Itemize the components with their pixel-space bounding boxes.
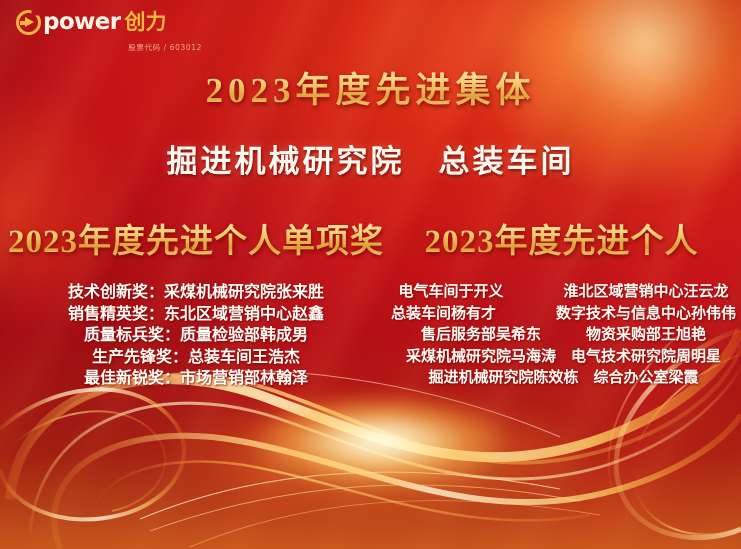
person-name: 采煤机械研究院马海涛 [406,347,571,369]
person-name: 售后服务部吴希东 [421,325,586,347]
list-item: 掘进机械研究院陈效栋 综合办公室梁霞 [428,368,698,390]
individual-award-list: 电气车间于开义 淮北区域营销中心汪云龙 总装车间杨有才 数字技术与信息中心孙伟伟… [392,282,741,390]
person-name: 电气车间于开义 [398,282,563,304]
person-name: 物资采购部王旭艳 [586,325,706,347]
award-poster: power 创力 股票代码 / 603012 2023年度先进集体 掘进机械研究… [0,0,741,549]
award-columns: 技术创新奖：采煤机械研究院张来胜 销售精英奖：东北区域营销中心赵鑫 质量标兵奖：… [0,282,741,390]
person-name: 掘进机械研究院陈效栋 [428,368,593,390]
section-headings: 2023年度先进个人单项奖 2023年度先进个人 [0,214,741,262]
person-name: 电气技术研究院周明星 [571,347,721,369]
logo-row: power 创力 [16,10,206,35]
list-item: 最佳新锐奖：市场营销部林翰泽 [84,368,308,390]
logo-wordmark-en: power [43,11,120,34]
circle-arrow-logo-icon [16,10,41,35]
list-item: 采煤机械研究院马海涛 电气技术研究院周明星 [406,347,721,369]
person-name: 淮北区域营销中心汪云龙 [563,282,728,304]
list-item: 销售精英奖：东北区域营销中心赵鑫 [68,304,324,326]
special-award-list: 技术创新奖：采煤机械研究院张来胜 销售精英奖：东北区域营销中心赵鑫 质量标兵奖：… [0,282,392,390]
person-name: 总装车间杨有才 [391,304,556,326]
company-logo[interactable]: power 创力 股票代码 / 603012 [16,10,206,53]
person-name: 综合办公室梁霞 [593,368,698,390]
page-subtitle: 掘进机械研究院 总装车间 [0,136,741,181]
list-item: 售后服务部吴希东 物资采购部王旭艳 [421,325,706,347]
list-item: 质量标兵奖：质量检验部韩成男 [84,325,308,347]
logo-wordmark-cn: 创力 [124,12,166,33]
list-item: 电气车间于开义 淮北区域营销中心汪云龙 [398,282,728,304]
person-name: 数字技术与信息中心孙伟伟 [556,304,736,326]
stock-code-label: 股票代码 / 603012 [16,42,206,53]
swoosh-hotspot [215,381,545,501]
page-title: 2023年度先进集体 [0,62,741,113]
list-item: 总装车间杨有才 数字技术与信息中心孙伟伟 [391,304,736,326]
list-item: 生产先锋奖：总装车间王浩杰 [92,347,300,369]
list-item: 技术创新奖：采煤机械研究院张来胜 [68,282,324,304]
heading-individual-special-awards: 2023年度先进个人单项奖 [0,214,392,262]
heading-advanced-individuals: 2023年度先进个人 [392,214,741,262]
